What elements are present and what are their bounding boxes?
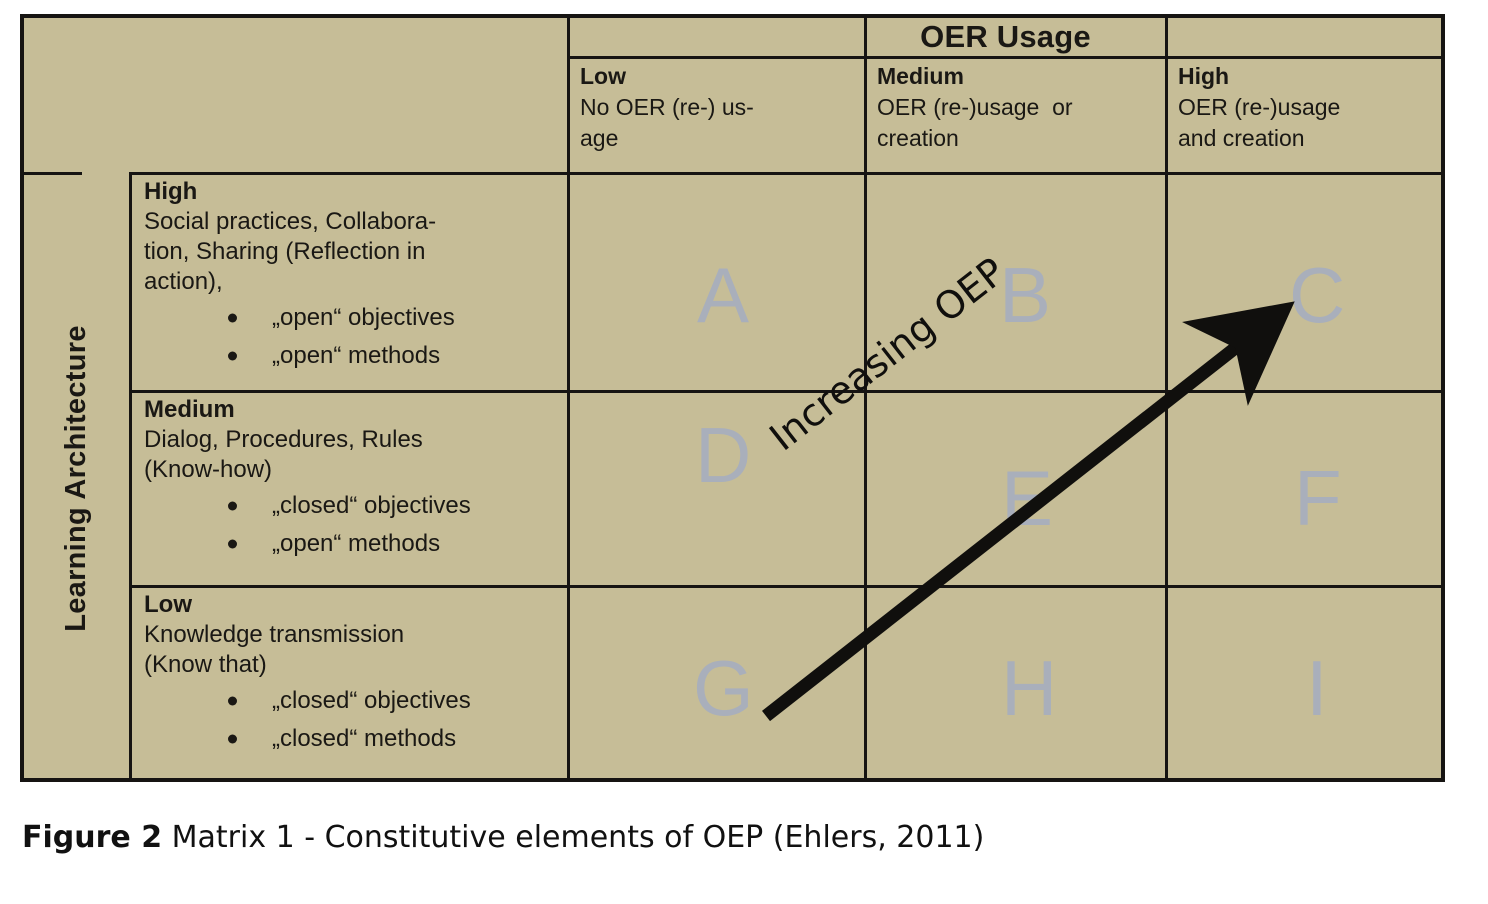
matrix-cell-H: H	[1001, 649, 1057, 727]
row-header-medium: Medium Dialog, Procedures, Rules(Know-ho…	[132, 393, 567, 585]
matrix-cell-A: A	[697, 256, 749, 334]
column-header-medium: Medium OER (re-)usage orcreation	[867, 59, 1163, 169]
row-header-low: Low Knowledge transmission(Know that) „c…	[132, 588, 567, 782]
matrix-cell-G: G	[693, 649, 754, 727]
figure-2-oep-matrix: OER Usage Low No OER (re-) us-age Medium…	[0, 0, 1488, 904]
column-header-medium-title: Medium	[877, 61, 1163, 92]
column-header-high-title: High	[1178, 61, 1441, 92]
matrix-cell-C: C	[1289, 256, 1345, 334]
oep-matrix-table: OER Usage Low No OER (re-) us-age Medium…	[20, 14, 1445, 782]
list-item: „closed“ objectives	[144, 682, 567, 720]
matrix-cell-F: F	[1294, 459, 1342, 537]
figure-caption-text: Matrix 1 - Constitutive elements of OEP …	[162, 820, 984, 855]
list-item: „open“ methods	[144, 337, 567, 375]
column-header-low-description: No OER (re-) us-age	[580, 92, 864, 154]
list-item: „closed“ methods	[144, 720, 567, 758]
list-item: „closed“ objectives	[144, 487, 567, 525]
list-item-label: „open“ objectives	[272, 304, 455, 331]
matrix-cell-E: E	[1001, 459, 1053, 537]
row-header-medium-bullet-list: „closed“ objectives „open“ methods	[144, 487, 567, 563]
row-header-high-bullet-list: „open“ objectives „open“ methods	[144, 299, 567, 375]
bullet-icon	[228, 314, 237, 323]
column-header-low: Low No OER (re-) us-age	[570, 59, 864, 169]
list-item-label: „open“ methods	[272, 530, 440, 557]
row-header-low-title: Low	[144, 590, 567, 620]
list-item-label: „open“ methods	[272, 342, 440, 369]
row-header-high: High Social practices, Collabora-tion, S…	[132, 175, 567, 390]
list-item: „open“ methods	[144, 525, 567, 563]
matrix-cell-D: D	[695, 416, 751, 494]
row-axis-title: Learning Architecture	[24, 175, 129, 782]
bullet-icon	[228, 735, 237, 744]
row-header-medium-title: Medium	[144, 395, 567, 425]
row-header-low-bullet-list: „closed“ objectives „closed“ methods	[144, 682, 567, 758]
bullet-icon	[228, 697, 237, 706]
column-header-low-title: Low	[580, 61, 864, 92]
bullet-icon	[228, 540, 237, 549]
column-header-high: High OER (re-)usageand creation	[1168, 59, 1441, 169]
figure-caption-number: Figure 2	[22, 820, 162, 855]
column-header-high-description: OER (re-)usageand creation	[1178, 92, 1441, 154]
row-header-high-title: High	[144, 177, 567, 207]
figure-caption: Figure 2 Matrix 1 - Constitutive element…	[22, 820, 984, 855]
list-item-label: „closed“ methods	[272, 725, 456, 752]
bullet-icon	[228, 352, 237, 361]
matrix-cell-B: B	[999, 256, 1051, 334]
matrix-cell-I: I	[1306, 649, 1328, 727]
list-item-label: „closed“ objectives	[272, 492, 471, 519]
list-item-label: „closed“ objectives	[272, 687, 471, 714]
column-header-medium-description: OER (re-)usage orcreation	[877, 92, 1163, 154]
column-axis-title: OER Usage	[570, 18, 1441, 56]
row-axis-title-text: Learning Architecture	[60, 325, 93, 632]
row-header-low-description: Knowledge transmission(Know that)	[144, 620, 567, 680]
bullet-icon	[228, 502, 237, 511]
list-item: „open“ objectives	[144, 299, 567, 337]
row-header-high-description: Social practices, Collabora-tion, Sharin…	[144, 207, 567, 297]
row-header-medium-description: Dialog, Procedures, Rules(Know-how)	[144, 425, 567, 485]
